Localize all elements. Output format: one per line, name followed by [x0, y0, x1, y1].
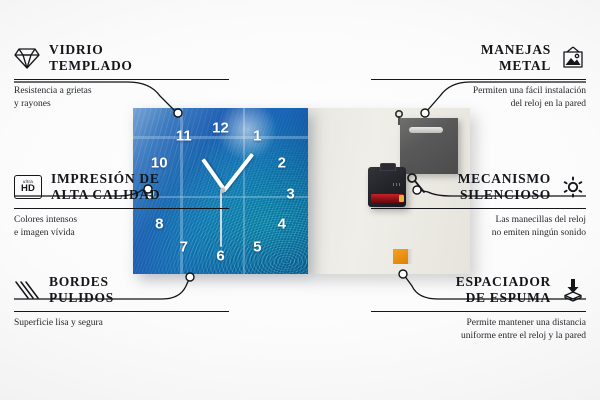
polished-edges-icon [14, 278, 40, 302]
feature-title: IMPRESIÓN DE ALTA CALIDAD [51, 171, 160, 203]
feature-header: BORDES PULIDOS [14, 274, 229, 306]
clock-numeral-10: 10 [151, 155, 168, 170]
clock-numeral-2: 2 [278, 155, 286, 170]
foam-spacer [393, 249, 408, 264]
feature-title: BORDES PULIDOS [49, 274, 114, 306]
feature-description: Colores intensos e imagen vívida [14, 214, 229, 240]
feature-divider [371, 311, 586, 313]
feature-description: Permite mantener una distancia uniforme … [371, 317, 586, 343]
feature-description: Las manecillas del reloj no emiten ningú… [371, 214, 586, 240]
feature-header: MANEJAS METAL [371, 42, 586, 74]
feature-title: ESPACIADOR DE ESPUMA [456, 274, 551, 306]
clock-numeral-4: 4 [278, 217, 286, 232]
clock-numeral-7: 7 [180, 240, 188, 255]
gear-icon [560, 175, 586, 199]
clock-numeral-1: 1 [253, 129, 261, 144]
ultra-hd-icon: ultra HD [14, 175, 42, 199]
feature-description: Superficie lisa y segura [14, 317, 229, 330]
foam-spacer-arrow-icon [560, 278, 586, 302]
clock-back-plate [400, 118, 458, 174]
feature-divider [371, 79, 586, 81]
clock-numeral-5: 5 [253, 240, 261, 255]
feature-title: MANEJAS METAL [481, 42, 551, 74]
feature-bordes-pulidos[interactable]: BORDES PULIDOS Superficie lisa y segura [14, 274, 229, 330]
movement-tab [380, 163, 396, 171]
feature-header: ESPACIADOR DE ESPUMA [371, 274, 586, 306]
infographic-canvas: 12 1 2 3 4 5 6 7 8 9 10 11 [0, 0, 600, 400]
feature-header: ultra HD IMPRESIÓN DE ALTA CALIDAD [14, 171, 229, 203]
feature-description: Permiten una fácil instalación del reloj… [371, 85, 586, 111]
feature-divider [371, 208, 586, 210]
picture-frame-hanger-icon [560, 46, 586, 70]
clock-numeral-11: 11 [176, 129, 192, 144]
feature-espaciador-espuma[interactable]: ESPACIADOR DE ESPUMA Permite mantener un… [371, 274, 586, 343]
feature-description: Resistencia a grietas y rayones [14, 85, 229, 111]
feature-header: VIDRIO TEMPLADO [14, 42, 229, 74]
ultra-hd-icon-large-text: HD [21, 184, 35, 194]
feature-mecanismo-silencioso[interactable]: MECANISMO SILENCIOSO Las manecillas del … [371, 171, 586, 240]
feature-header: MECANISMO SILENCIOSO [371, 171, 586, 203]
feature-manejas-metal[interactable]: MANEJAS METAL Permiten una fácil instala… [371, 42, 586, 111]
feature-divider [14, 79, 229, 81]
metal-hanger-icon-top [392, 110, 406, 126]
feature-impresion-alta-calidad[interactable]: ultra HD IMPRESIÓN DE ALTA CALIDAD Color… [14, 171, 229, 240]
feature-divider [14, 311, 229, 313]
feature-title: MECANISMO SILENCIOSO [458, 171, 551, 203]
feature-divider [14, 208, 229, 210]
diamond-icon [14, 46, 40, 70]
back-plate-slot [409, 127, 443, 133]
feature-title: VIDRIO TEMPLADO [49, 42, 133, 74]
feature-vidrio-templado[interactable]: VIDRIO TEMPLADO Resistencia a grietas y … [14, 42, 229, 111]
clock-numeral-12: 12 [212, 120, 229, 135]
clock-numeral-6: 6 [216, 248, 224, 263]
clock-numeral-3: 3 [286, 187, 294, 202]
